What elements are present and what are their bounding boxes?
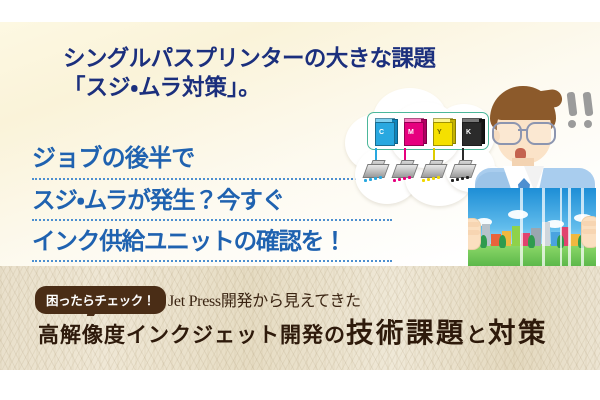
banding-streak bbox=[568, 188, 571, 266]
glasses-icon bbox=[492, 122, 556, 142]
banding-streak bbox=[542, 188, 545, 266]
body-line-3: インク供給ユニットの確認を！ bbox=[32, 223, 392, 262]
promotional-banner: シングルパスプリンターの大きな課題 「スジ・ムラ対策」。 ジョブの後半で スジ・… bbox=[0, 0, 600, 400]
footer-title-part-3: と bbox=[466, 323, 488, 347]
print-head-m bbox=[392, 160, 418, 180]
print-head-y bbox=[421, 160, 447, 180]
hair-fringe bbox=[492, 98, 554, 120]
print-sample-image bbox=[468, 188, 596, 266]
body-line-2: スジ・ムラが発生？今すぐ bbox=[32, 182, 392, 221]
headline-line-1: シングルパスプリンターの大きな課題 bbox=[63, 44, 393, 73]
cartridge-c: C bbox=[375, 118, 397, 144]
footer-main-title: 高解像度インクジェット開発の技術課題と対策 bbox=[38, 316, 578, 352]
banding-streak bbox=[560, 188, 562, 266]
cartridge-y: Y bbox=[433, 118, 455, 144]
cartridge-m: M bbox=[404, 118, 426, 144]
headline: シングルパスプリンターの大きな課題 「スジ・ムラ対策」。 bbox=[63, 44, 393, 102]
cartridge-label-y: Y bbox=[437, 129, 442, 136]
footer-subtitle: Jet Press開発から見えてきた bbox=[168, 287, 361, 311]
cartridge-label-m: M bbox=[408, 129, 414, 136]
body-line-1: ジョブの後半で bbox=[32, 141, 392, 180]
cartridge-label-c: C bbox=[379, 129, 384, 136]
check-badge: 困ったらチェック！ bbox=[35, 286, 166, 314]
footer-title-part-1: 高解像度インクジェット開発の bbox=[38, 323, 346, 347]
banding-streak bbox=[520, 188, 523, 266]
headline-line-2: 「スジ・ムラ対策」。 bbox=[63, 73, 393, 102]
body-text-block: ジョブの後半で スジ・ムラが発生？今すぐ インク供給ユニットの確認を！ bbox=[32, 141, 392, 264]
footer-title-part-2: 技術課題 bbox=[346, 317, 466, 348]
print-head-c bbox=[363, 160, 389, 180]
footer-title-part-4: 対策 bbox=[488, 317, 548, 348]
exclamation-icon bbox=[566, 92, 600, 138]
